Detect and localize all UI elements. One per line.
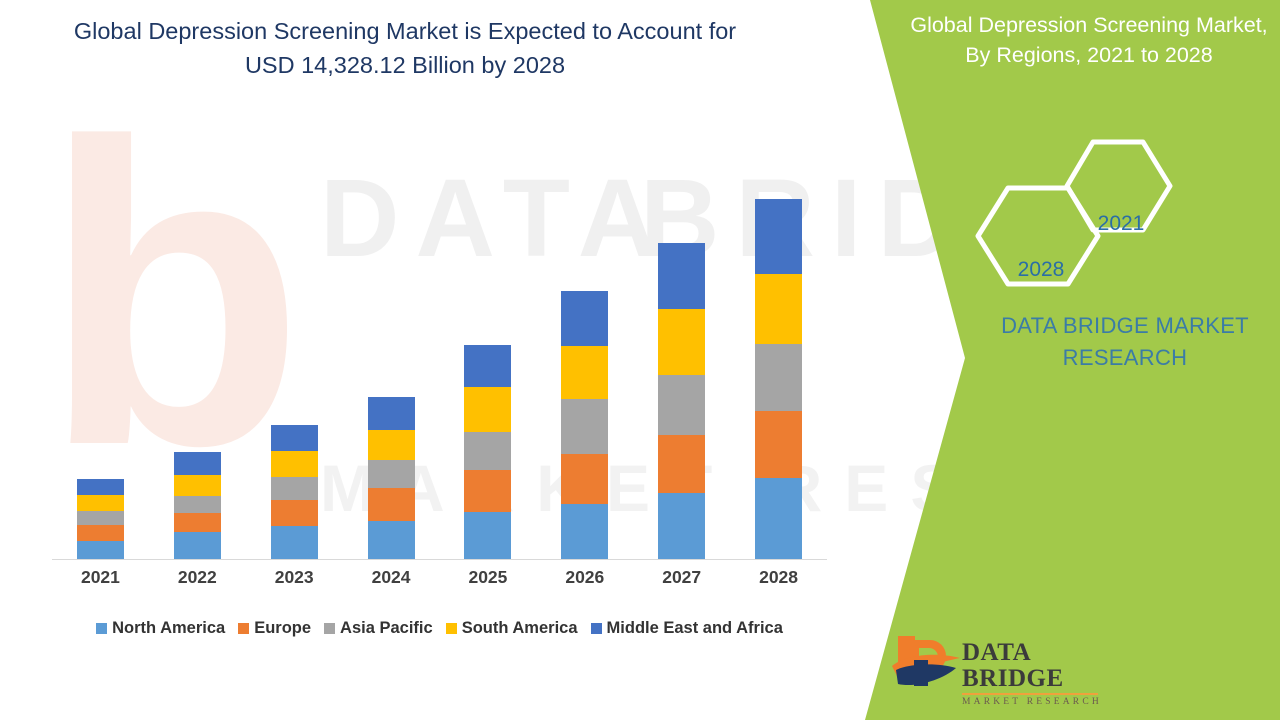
bar-segment[interactable] [77, 479, 124, 495]
x-axis-line [52, 559, 827, 561]
bar-segment[interactable] [368, 488, 415, 521]
bar-segment[interactable] [561, 504, 608, 558]
bar-slot [536, 95, 633, 559]
stacked-bar[interactable] [561, 291, 608, 559]
bar-segment[interactable] [561, 291, 608, 346]
stacked-bar[interactable] [368, 397, 415, 558]
bar-segment[interactable] [77, 525, 124, 541]
bar-segment[interactable] [658, 243, 705, 309]
data-bridge-logo-icon [890, 630, 968, 692]
bar-segment[interactable] [368, 521, 415, 558]
bar-segment[interactable] [174, 496, 221, 513]
bar-segment[interactable] [271, 477, 318, 500]
bar-segment[interactable] [77, 541, 124, 558]
x-axis-tick-label: 2024 [343, 562, 440, 592]
legend-item[interactable]: Asia Pacific [324, 619, 433, 638]
stacked-bar[interactable] [755, 199, 802, 559]
logo-wordmark: DATA BRIDGE MARKET RESEARCH [962, 640, 1112, 707]
bar-segment[interactable] [174, 513, 221, 532]
bar-segment[interactable] [174, 532, 221, 558]
legend-label: South America [462, 619, 578, 638]
stacked-bar[interactable] [77, 479, 124, 558]
bar-segment[interactable] [464, 345, 511, 387]
legend-label: North America [112, 619, 225, 638]
bar-group [52, 95, 827, 559]
logo-tagline: MARKET RESEARCH [962, 697, 1112, 707]
bar-slot [52, 95, 149, 559]
bar-segment[interactable] [464, 387, 511, 432]
legend-swatch-icon [96, 623, 107, 634]
bar-segment[interactable] [755, 199, 802, 274]
bar-segment[interactable] [464, 432, 511, 470]
bar-segment[interactable] [755, 411, 802, 478]
bar-segment[interactable] [368, 460, 415, 488]
bar-segment[interactable] [464, 470, 511, 512]
bar-segment[interactable] [561, 399, 608, 454]
page-title: Global Depression Screening Market is Ex… [60, 14, 750, 82]
legend-item[interactable]: South America [446, 619, 578, 638]
x-axis-tick-label: 2026 [536, 562, 633, 592]
legend-item[interactable]: North America [96, 619, 225, 638]
legend-swatch-icon [324, 623, 335, 634]
stacked-bar[interactable] [658, 243, 705, 559]
hexagon-2021-label: 2021 [1067, 212, 1175, 236]
bar-segment[interactable] [77, 495, 124, 511]
chart-legend: North AmericaEuropeAsia PacificSouth Ame… [52, 613, 827, 643]
x-axis-labels: 20212022202320242025202620272028 [52, 562, 827, 592]
bar-slot [440, 95, 537, 559]
bar-segment[interactable] [271, 451, 318, 477]
bar-segment[interactable] [658, 375, 705, 435]
x-axis-tick-label: 2023 [246, 562, 343, 592]
legend-swatch-icon [591, 623, 602, 634]
bar-segment[interactable] [464, 512, 511, 558]
logo-name: DATA BRIDGE [962, 640, 1112, 692]
bar-segment[interactable] [658, 435, 705, 493]
bar-segment[interactable] [755, 274, 802, 344]
legend-label: Middle East and Africa [607, 619, 783, 638]
bar-segment[interactable] [658, 493, 705, 558]
logo-divider [962, 693, 1098, 695]
bar-segment[interactable] [271, 526, 318, 558]
hexagon-group: 2021 2028 [975, 138, 1190, 278]
bar-segment[interactable] [368, 397, 415, 430]
x-axis-tick-label: 2021 [52, 562, 149, 592]
panel-brand-text: DATA BRIDGE MARKET RESEARCH [965, 310, 1280, 374]
bar-segment[interactable] [561, 346, 608, 399]
legend-swatch-icon [238, 623, 249, 634]
bar-segment[interactable] [755, 344, 802, 411]
hexagon-2028-label: 2028 [982, 258, 1100, 282]
bar-slot [730, 95, 827, 559]
legend-item[interactable]: Europe [238, 619, 311, 638]
bar-segment[interactable] [755, 478, 802, 558]
stacked-bar[interactable] [464, 345, 511, 559]
legend-swatch-icon [446, 623, 457, 634]
legend-item[interactable]: Middle East and Africa [591, 619, 783, 638]
stacked-bar[interactable] [271, 425, 318, 558]
bar-slot [343, 95, 440, 559]
bar-segment[interactable] [271, 425, 318, 451]
x-axis-tick-label: 2027 [633, 562, 730, 592]
bar-slot [149, 95, 246, 559]
bar-segment[interactable] [561, 454, 608, 504]
bar-segment[interactable] [271, 500, 318, 526]
x-axis-tick-label: 2028 [730, 562, 827, 592]
panel-title: Global Depression Screening Market, By R… [905, 10, 1273, 70]
stacked-bar-chart [52, 95, 827, 560]
infographic-canvas: b DATA BRIDGE MARKET RESEARCH Global Dep… [0, 0, 1280, 720]
bar-segment[interactable] [174, 452, 221, 475]
legend-label: Europe [254, 619, 311, 638]
bar-slot [246, 95, 343, 559]
legend-label: Asia Pacific [340, 619, 433, 638]
bar-segment[interactable] [174, 475, 221, 496]
bar-segment[interactable] [368, 430, 415, 460]
x-axis-tick-label: 2025 [440, 562, 537, 592]
stacked-bar[interactable] [174, 452, 221, 558]
plot-area [52, 95, 827, 560]
bar-slot [633, 95, 730, 559]
bar-segment[interactable] [658, 309, 705, 375]
bar-segment[interactable] [77, 511, 124, 525]
x-axis-tick-label: 2022 [149, 562, 246, 592]
